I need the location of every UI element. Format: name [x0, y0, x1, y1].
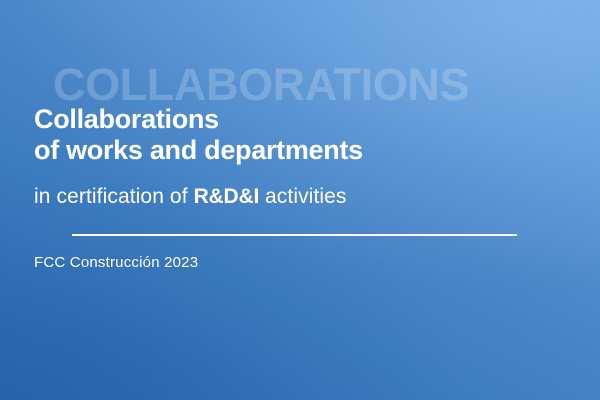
footer-attribution: FCC Construcción 2023 [34, 253, 554, 272]
title-slide: COLLABORATIONS Collaborations of works a… [0, 0, 600, 400]
page-subtitle-prefix: in certification of [34, 185, 194, 208]
page-title-line-2: of works and departments [34, 135, 554, 166]
page-subtitle-emphasis: R&D&I [194, 185, 260, 208]
slide-content: Collaborations of works and departments … [34, 86, 554, 272]
page-subtitle: in certification of R&D&I activities [34, 184, 554, 209]
divider [72, 234, 517, 236]
page-title-line-1: Collaborations [34, 104, 554, 135]
page-subtitle-suffix: activities [259, 185, 346, 208]
page-title: Collaborations of works and departments [34, 104, 554, 166]
